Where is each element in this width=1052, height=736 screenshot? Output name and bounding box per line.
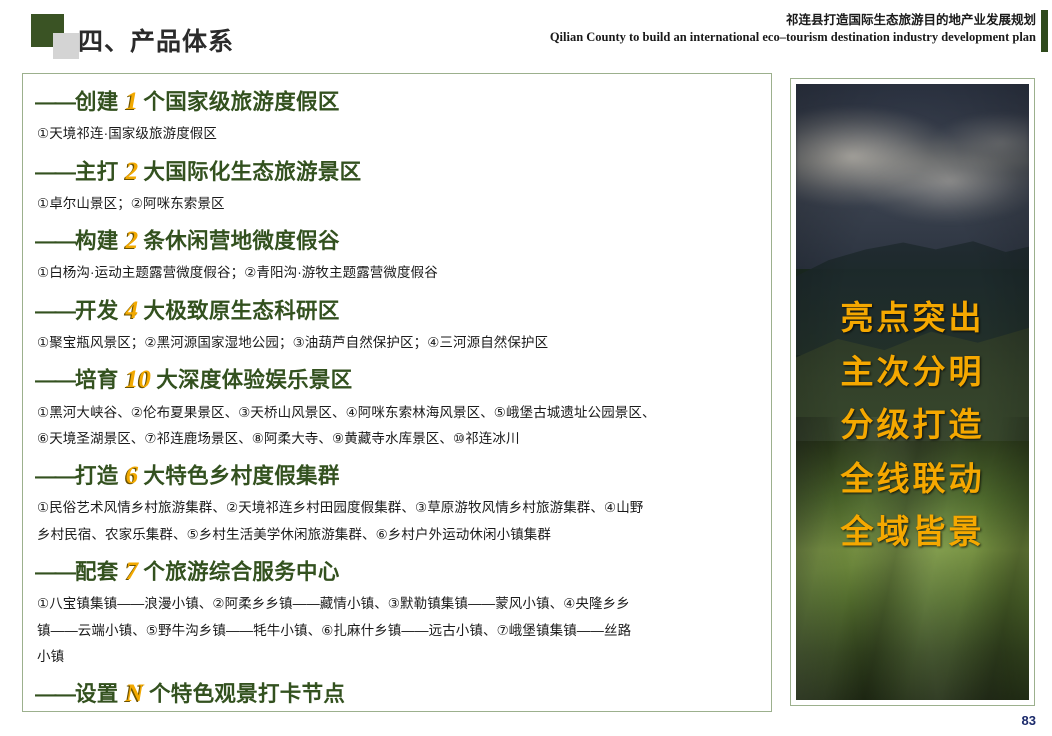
section-block: ——打造6大特色乡村度假集群 ①民俗艺术风情乡村旅游集群、②天境祁连乡村田园度假… — [35, 458, 759, 548]
section-item-line: 小镇 — [37, 644, 759, 670]
heading-number: 10 — [119, 366, 157, 393]
heading-dashes: —— — [35, 560, 74, 584]
heading-number: 6 — [119, 462, 144, 489]
heading-verb: 培育 — [75, 368, 119, 392]
heading-verb: 创建 — [75, 90, 119, 114]
heading-suffix: 大深度体验娱乐景区 — [156, 368, 352, 392]
grassland-photo: 亮点突出 主次分明 分级打造 全线联动 全域皆景 — [796, 84, 1029, 700]
heading-dashes: —— — [35, 682, 74, 706]
heading-dashes: —— — [35, 464, 74, 488]
section-items: ①八宝镇集镇——浪漫小镇、②阿柔乡乡镇——藏情小镇、③默勒镇集镇——蒙风小镇、④… — [37, 591, 759, 670]
heading-dashes: —— — [35, 299, 74, 323]
section-item-line: ①卓尔山景区；②阿咪东索景区 — [37, 191, 759, 217]
heading-number: 4 — [119, 297, 144, 324]
heading-dashes: —— — [35, 90, 74, 114]
header-subtitle-group: 祁连县打造国际生态旅游目的地产业发展规划 Qilian County to bu… — [550, 12, 1036, 46]
section-block: ——创建1个国家级旅游度假区 ①天境祁连·国家级旅游度假区 — [35, 84, 759, 148]
section-heading: ——培育10大深度体验娱乐景区 — [35, 362, 759, 398]
section-item-line: ①民俗艺术风情乡村旅游集群、②天境祁连乡村田园度假集群、③草原游牧风情乡村旅游集… — [37, 495, 759, 521]
section-items: ①卓尔山景区；②阿咪东索景区 — [37, 191, 759, 217]
heading-dashes: —— — [35, 229, 74, 253]
section-heading: ——构建2条休闲营地微度假谷 — [35, 223, 759, 259]
section-items: ①白杨沟·运动主题露营微度假谷；②青阳沟·游牧主题露营微度假谷 — [37, 260, 759, 286]
section-item-line: 乡村民宿、农家乐集群、⑤乡村生活美学休闲旅游集群、⑥乡村户外运动休闲小镇集群 — [37, 522, 759, 548]
heading-suffix: 大国际化生态旅游景区 — [143, 160, 361, 184]
photo-overlay-line: 全线联动 — [796, 454, 1029, 507]
highlight-photo-panel: 亮点突出 主次分明 分级打造 全线联动 全域皆景 — [790, 78, 1035, 706]
section-block: ——构建2条休闲营地微度假谷 ①白杨沟·运动主题露营微度假谷；②青阳沟·游牧主题… — [35, 223, 759, 287]
section-heading: ——配套7个旅游综合服务中心 — [35, 554, 759, 590]
section-block: ——开发4大极致原生态科研区 ①聚宝瓶风景区；②黑河源国家湿地公园；③油葫芦自然… — [35, 293, 759, 357]
header-accent-bar — [1041, 10, 1048, 52]
heading-verb: 构建 — [75, 229, 119, 253]
section-item-line: ①天境祁连·国家级旅游度假区 — [37, 121, 759, 147]
product-system-content-box: ——创建1个国家级旅游度假区 ①天境祁连·国家级旅游度假区 ——主打2大国际化生… — [22, 73, 772, 712]
heading-verb: 开发 — [75, 299, 119, 323]
heading-dashes: —— — [35, 368, 74, 392]
page-header: 四、产品体系 祁连县打造国际生态旅游目的地产业发展规划 Qilian Count… — [0, 0, 1052, 68]
heading-number: N — [119, 680, 149, 707]
heading-suffix: 个国家级旅游度假区 — [143, 90, 339, 114]
page-title: 四、产品体系 — [78, 22, 234, 58]
heading-number: 2 — [119, 158, 144, 185]
photo-overlay-text-group: 亮点突出 主次分明 分级打造 全线联动 全域皆景 — [796, 293, 1029, 560]
section-heading: ——设置N个特色观景打卡节点 — [35, 676, 759, 712]
section-block: ——主打2大国际化生态旅游景区 ①卓尔山景区；②阿咪东索景区 — [35, 154, 759, 218]
photo-overlay-line: 全域皆景 — [796, 507, 1029, 560]
heading-number: 1 — [119, 88, 144, 115]
photo-overlay-line: 分级打造 — [796, 400, 1029, 453]
heading-suffix: 大极致原生态科研区 — [143, 299, 339, 323]
section-heading: ——主打2大国际化生态旅游景区 — [35, 154, 759, 190]
heading-suffix: 大特色乡村度假集群 — [143, 464, 339, 488]
heading-verb: 设置 — [75, 682, 119, 706]
section-items: ①天境祁连·国家级旅游度假区 — [37, 121, 759, 147]
section-heading: ——创建1个国家级旅游度假区 — [35, 84, 759, 120]
photo-overlay-line: 亮点突出 — [796, 293, 1029, 346]
heading-number: 7 — [119, 558, 144, 585]
section-block: ——配套7个旅游综合服务中心 ①八宝镇集镇——浪漫小镇、②阿柔乡乡镇——藏情小镇… — [35, 554, 759, 670]
section-item-line: ①聚宝瓶风景区；②黑河源国家湿地公园；③油葫芦自然保护区；④三河源自然保护区 — [37, 330, 759, 356]
heading-suffix: 个特色观景打卡节点 — [149, 682, 345, 706]
logo-square-light-icon — [53, 33, 79, 59]
page-number: 83 — [1022, 713, 1036, 728]
section-item-line: 镇——云端小镇、⑤野牛沟乡镇——牦牛小镇、⑥扎麻什乡镇——远古小镇、⑦峨堡镇集镇… — [37, 618, 759, 644]
section-items: ①民俗艺术风情乡村旅游集群、②天境祁连乡村田园度假集群、③草原游牧风情乡村旅游集… — [37, 495, 759, 548]
heading-verb: 主打 — [75, 160, 119, 184]
section-item-line: ⑥天境圣湖景区、⑦祁连鹿场景区、⑧阿柔大寺、⑨黄藏寺水库景区、⑩祁连冰川 — [37, 426, 759, 452]
heading-suffix: 个旅游综合服务中心 — [143, 560, 339, 584]
section-items: ①黑河大峡谷、②伦布夏果景区、③天桥山风景区、④阿咪东索林海风景区、⑤峨堡古城遗… — [37, 400, 759, 453]
section-block: ——培育10大深度体验娱乐景区 ①黑河大峡谷、②伦布夏果景区、③天桥山风景区、④… — [35, 362, 759, 452]
section-heading: ——打造6大特色乡村度假集群 — [35, 458, 759, 494]
heading-dashes: —— — [35, 160, 74, 184]
heading-number: 2 — [119, 227, 144, 254]
section-item-line: ①黑河大峡谷、②伦布夏果景区、③天桥山风景区、④阿咪东索林海风景区、⑤峨堡古城遗… — [37, 400, 759, 426]
photo-overlay-line: 主次分明 — [796, 347, 1029, 400]
header-title-english: Qilian County to build an international … — [550, 29, 1036, 46]
section-item-line: ①八宝镇集镇——浪漫小镇、②阿柔乡乡镇——藏情小镇、③默勒镇集镇——蒙风小镇、④… — [37, 591, 759, 617]
section-heading: ——开发4大极致原生态科研区 — [35, 293, 759, 329]
heading-verb: 配套 — [75, 560, 119, 584]
section-block: ——设置N个特色观景打卡节点 — [35, 676, 759, 712]
section-item-line: ①白杨沟·运动主题露营微度假谷；②青阳沟·游牧主题露营微度假谷 — [37, 260, 759, 286]
heading-suffix: 条休闲营地微度假谷 — [143, 229, 339, 253]
heading-verb: 打造 — [75, 464, 119, 488]
section-items: ①聚宝瓶风景区；②黑河源国家湿地公园；③油葫芦自然保护区；④三河源自然保护区 — [37, 330, 759, 356]
header-title-chinese: 祁连县打造国际生态旅游目的地产业发展规划 — [550, 12, 1036, 29]
